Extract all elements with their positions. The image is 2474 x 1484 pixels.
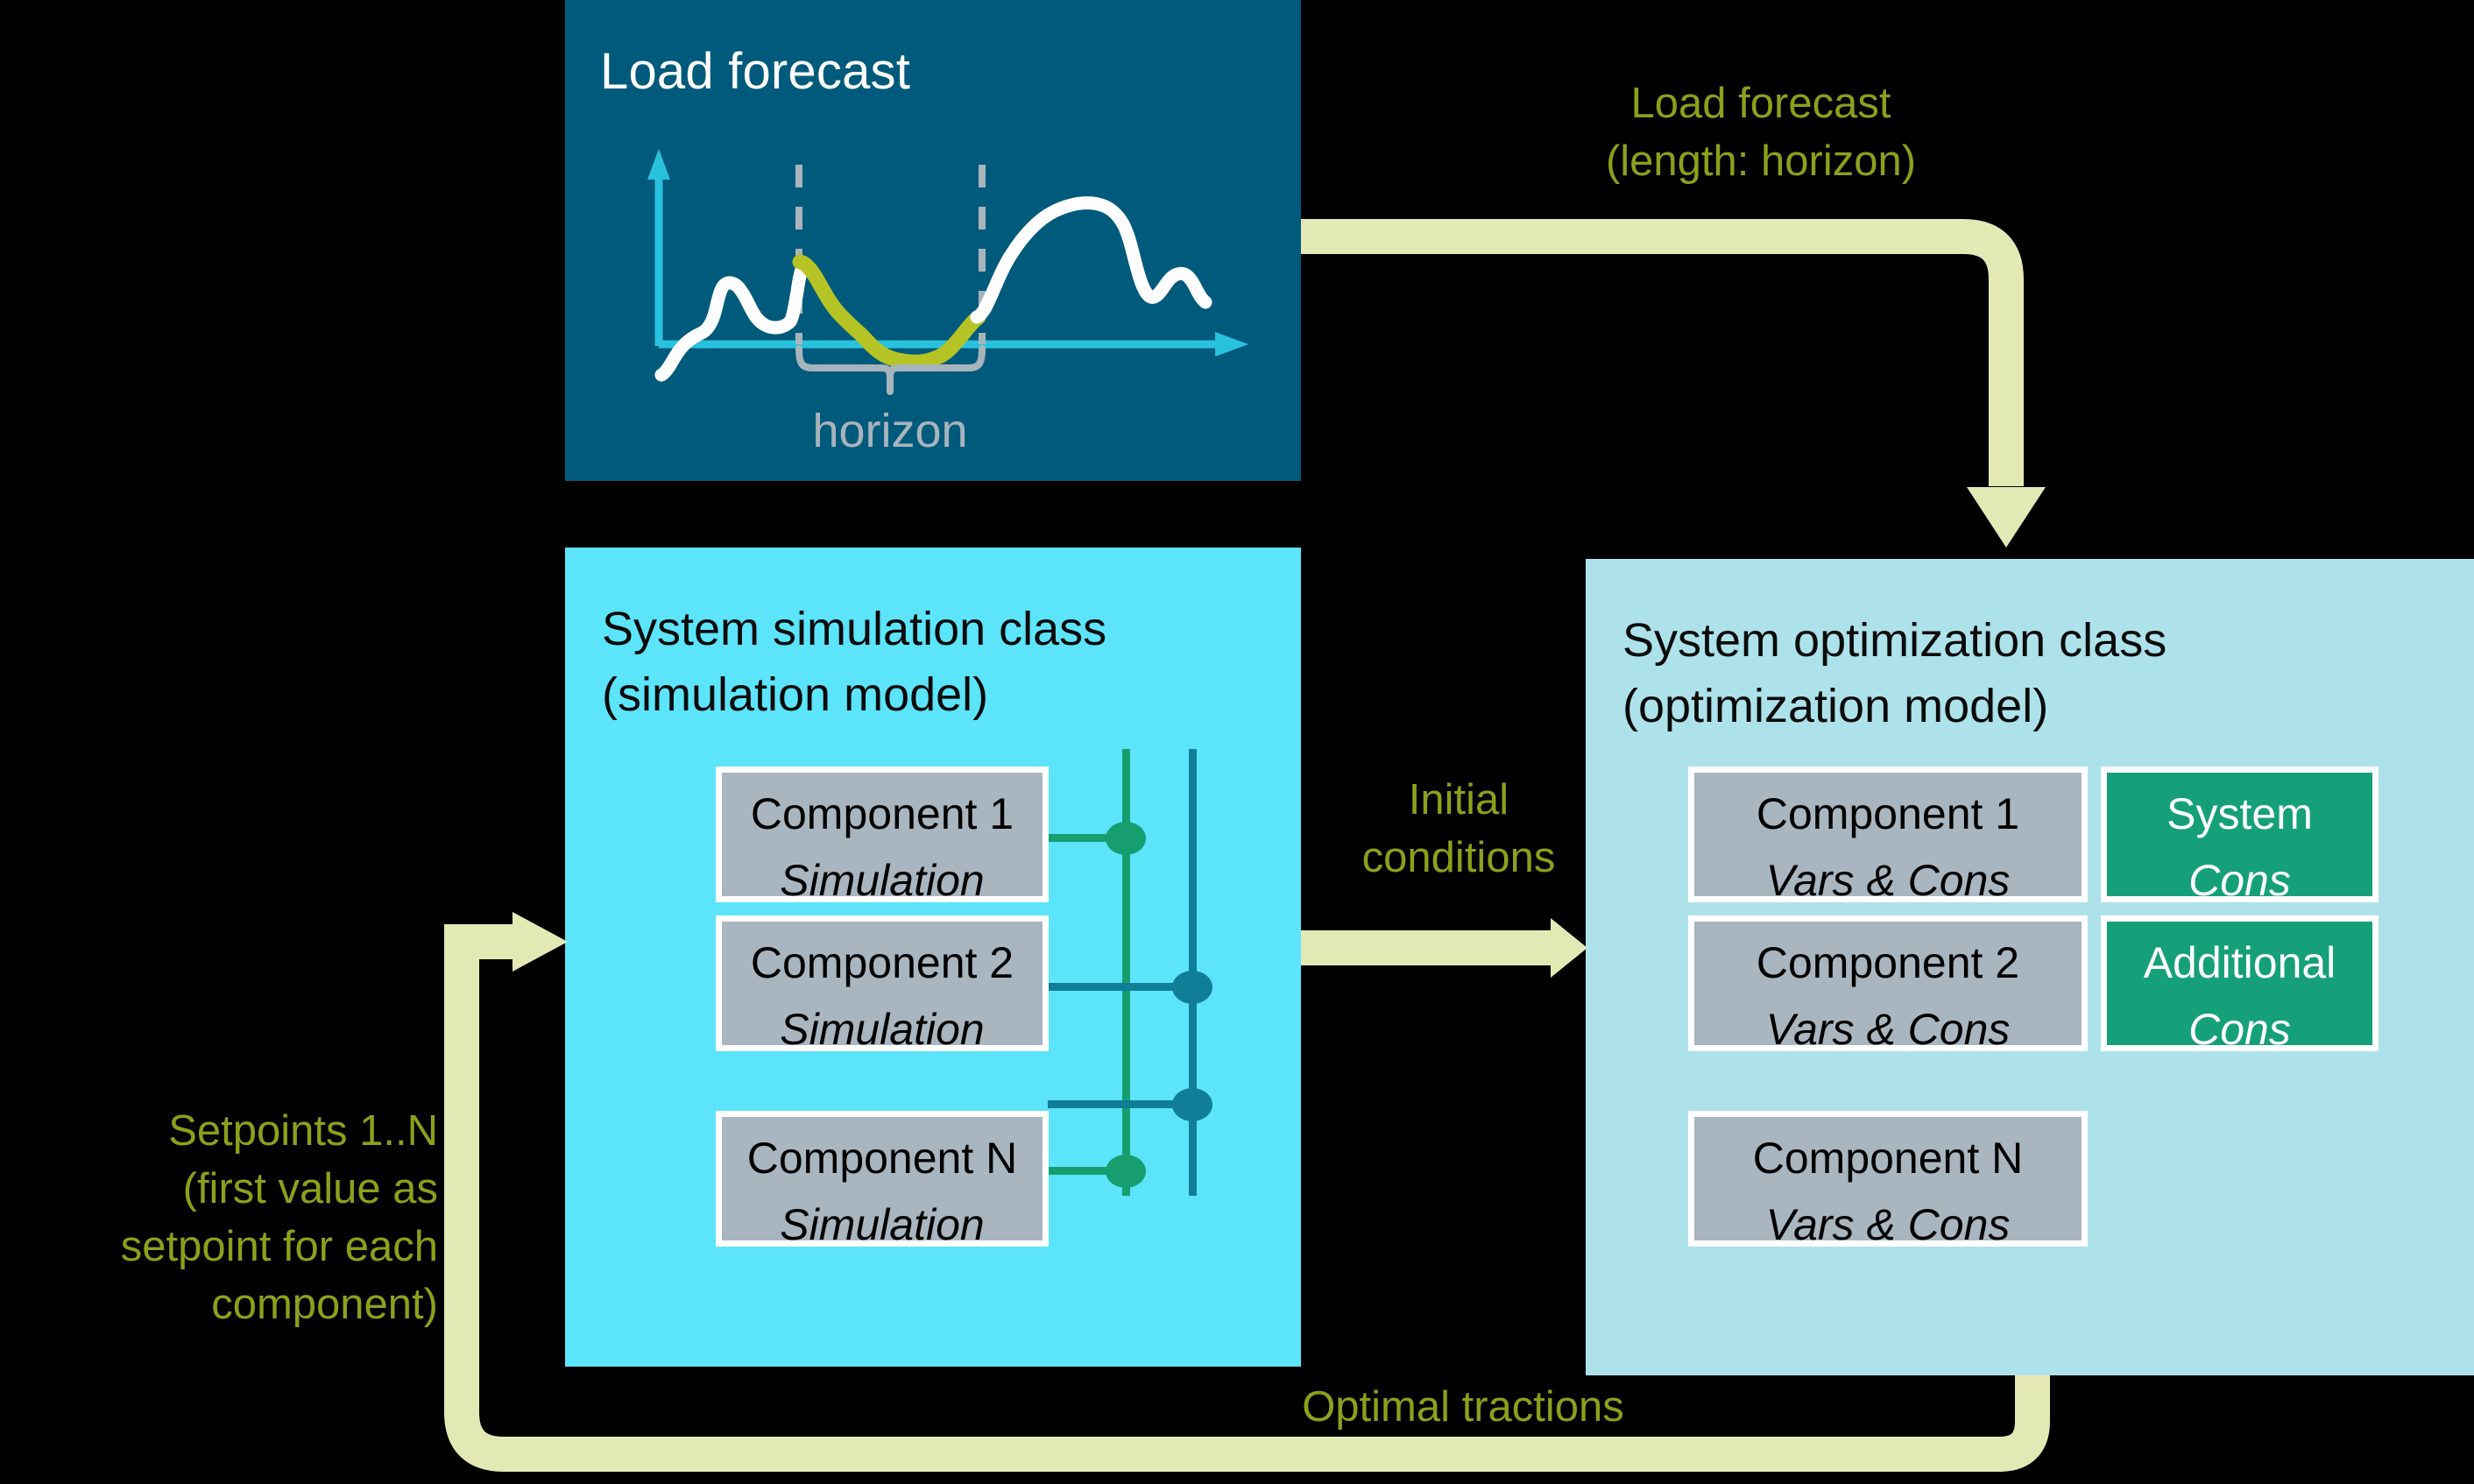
cons-kind: Cons — [2107, 859, 2372, 902]
setpoints-line-1: Setpoints 1..N — [26, 1102, 438, 1160]
component-kind: Simulation — [722, 1203, 1043, 1247]
initial-conditions-line-1: Initial — [1305, 771, 1612, 829]
initial-conditions-line-2: conditions — [1305, 829, 1612, 887]
component-kind: Simulation — [722, 1007, 1043, 1051]
load-forecast-panel: Load forecast horizon — [565, 0, 1301, 481]
component-kind: Vars & Cons — [1694, 1203, 2082, 1247]
forecast-curve-white-right — [977, 203, 1205, 317]
system-simulation-panel: System simulation class (simulation mode… — [565, 548, 1301, 1367]
cons-kind: Cons — [2107, 1007, 2372, 1051]
label-optimal-tractions: Optimal tractions — [1200, 1378, 1726, 1436]
simulation-title-line-2: (simulation model) — [602, 662, 1106, 728]
diagram-canvas: Load forecast horizon — [0, 0, 2474, 1484]
label-setpoints: Setpoints 1..N (first value as setpoint … — [26, 1102, 438, 1334]
bus-node-green-component-n — [1106, 1155, 1146, 1188]
label-initial-conditions: Initial conditions — [1305, 771, 1612, 887]
bus-line-green — [1122, 749, 1130, 1113]
simulation-panel-title: System simulation class (simulation mode… — [602, 597, 1106, 727]
cons-name: System — [2107, 792, 2372, 836]
load-forecast-flow-line-2: (length: horizon) — [1524, 132, 1997, 190]
arrow-initial-conditions — [1301, 918, 1587, 978]
simulation-component-box-2[interactable]: Component 2 Simulation — [716, 915, 1049, 1051]
system-optimization-panel: System optimization class (optimization … — [1586, 559, 2474, 1375]
optimization-title-line-1: System optimization class — [1622, 608, 2167, 674]
component-name: Component 2 — [722, 941, 1043, 985]
horizon-label: horizon — [812, 405, 967, 457]
load-forecast-chart: horizon — [565, 0, 1301, 481]
optimization-title-line-2: (optimization model) — [1622, 674, 2167, 739]
bus-node-teal-component-2 — [1172, 971, 1212, 1004]
load-forecast-flow-line-1: Load forecast — [1524, 74, 1997, 132]
component-kind: Simulation — [722, 859, 1043, 902]
optimal-tractions-text: Optimal tractions — [1200, 1378, 1726, 1436]
forecast-curve-white-left — [661, 263, 804, 375]
horizon-guides — [799, 165, 982, 344]
bus-line-teal-lower — [1189, 1108, 1197, 1196]
bus-node-teal-component-n — [1172, 1088, 1212, 1121]
bus-line-teal — [1189, 749, 1197, 1113]
component-kind: Vars & Cons — [1694, 1007, 2082, 1051]
setpoints-line-3: setpoint for each — [26, 1218, 438, 1276]
optimization-component-box-2[interactable]: Component 2 Vars & Cons — [1688, 915, 2088, 1051]
setpoints-line-4: component) — [26, 1276, 438, 1333]
label-load-forecast-flow: Load forecast (length: horizon) — [1524, 74, 1997, 190]
simulation-component-box-n[interactable]: Component N Simulation — [716, 1111, 1049, 1247]
simulation-component-box-1[interactable]: Component 1 Simulation — [716, 767, 1049, 902]
simulation-title-line-1: System simulation class — [602, 597, 1106, 662]
chart-axes — [647, 149, 1248, 357]
component-name: Component 2 — [1694, 941, 2082, 985]
cons-name: Additional — [2107, 941, 2372, 985]
component-name: Component N — [1694, 1136, 2082, 1180]
optimization-component-box-n[interactable]: Component N Vars & Cons — [1688, 1111, 2088, 1247]
component-name: Component 1 — [722, 792, 1043, 836]
setpoints-line-2: (first value as — [26, 1160, 438, 1218]
optimization-component-box-1[interactable]: Component 1 Vars & Cons — [1688, 767, 2088, 902]
system-cons-box[interactable]: System Cons — [2101, 767, 2379, 902]
component-name: Component N — [722, 1136, 1043, 1180]
bus-node-green-component-1 — [1106, 822, 1146, 855]
arrow-load-forecast — [1301, 237, 2046, 548]
component-kind: Vars & Cons — [1694, 859, 2082, 902]
additional-cons-box[interactable]: Additional Cons — [2101, 915, 2379, 1051]
component-name: Component 1 — [1694, 792, 2082, 836]
optimization-panel-title: System optimization class (optimization … — [1622, 608, 2167, 738]
